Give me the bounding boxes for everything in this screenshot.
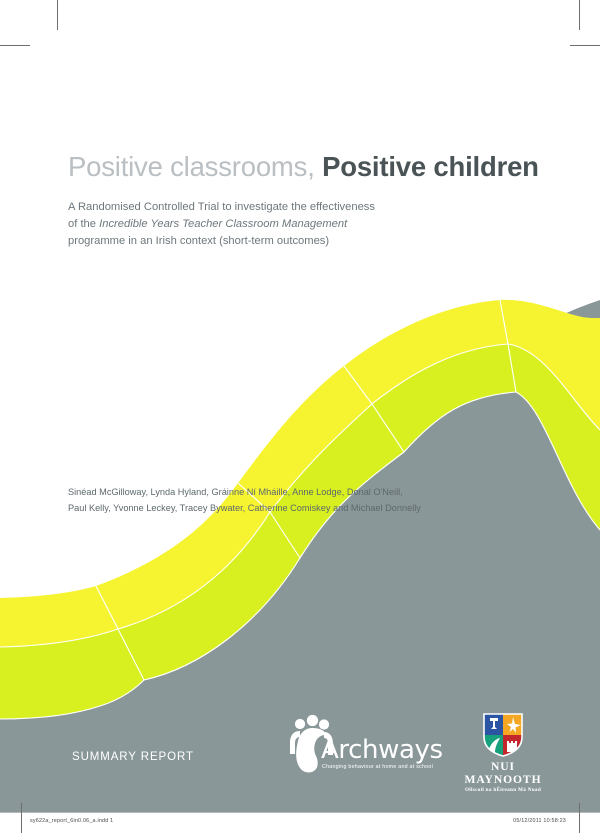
title-bold-part: Positive children xyxy=(322,151,539,182)
author-line-1: Sinéad McGilloway, Lynda Hyland, Gráinne… xyxy=(68,484,488,500)
author-list: Sinéad McGilloway, Lynda Hyland, Gráinne… xyxy=(68,484,488,516)
nui-maynooth-shield-icon xyxy=(483,713,523,757)
nui-maynooth-name: NUI MAYNOOTH xyxy=(455,760,551,786)
crop-mark-bottom-left-vertical xyxy=(21,803,22,833)
nui-maynooth-irish-name: Ollscoil na hÉireann Má Nuad xyxy=(455,787,551,793)
subtitle: A Randomised Controlled Trial to investi… xyxy=(68,199,538,249)
footer-file-slug: sy622a_report_6in0.06_a.indd 1 xyxy=(30,818,113,824)
print-footer-bar: sy622a_report_6in0.06_a.indd 1 05/12/201… xyxy=(0,812,600,834)
document-page: Positive classrooms, Positive children A… xyxy=(0,0,600,833)
subtitle-line-1: A Randomised Controlled Trial to investi… xyxy=(68,201,375,213)
report-type-label: SUMMARY REPORT xyxy=(72,751,194,763)
page-title: Positive classrooms, Positive children xyxy=(68,152,538,182)
footer-timestamp: 05/12/2011 10:58:23 xyxy=(513,818,566,824)
archways-wordmark: Archways xyxy=(321,735,443,765)
cover-wave-artwork xyxy=(0,0,600,812)
author-line-2: Paul Kelly, Yvonne Leckey, Tracey Bywate… xyxy=(68,500,488,516)
nui-maynooth-logo: NUI MAYNOOTH Ollscoil na hÉireann Má Nua… xyxy=(455,713,551,777)
subtitle-line-2-prefix: of the xyxy=(68,218,99,230)
title-light-part: Positive classrooms, xyxy=(68,151,315,182)
crop-mark-bottom-right-vertical xyxy=(579,803,580,833)
archways-tagline: Changing behaviour at home and at school xyxy=(322,764,433,770)
subtitle-programme-name: Incredible Years Teacher Classroom Manag… xyxy=(99,218,347,230)
title-block: Positive classrooms, Positive children A… xyxy=(68,152,538,250)
archways-logo: Archways Changing behaviour at home and … xyxy=(283,713,431,775)
subtitle-line-3: programme in an Irish context (short-ter… xyxy=(68,235,329,247)
